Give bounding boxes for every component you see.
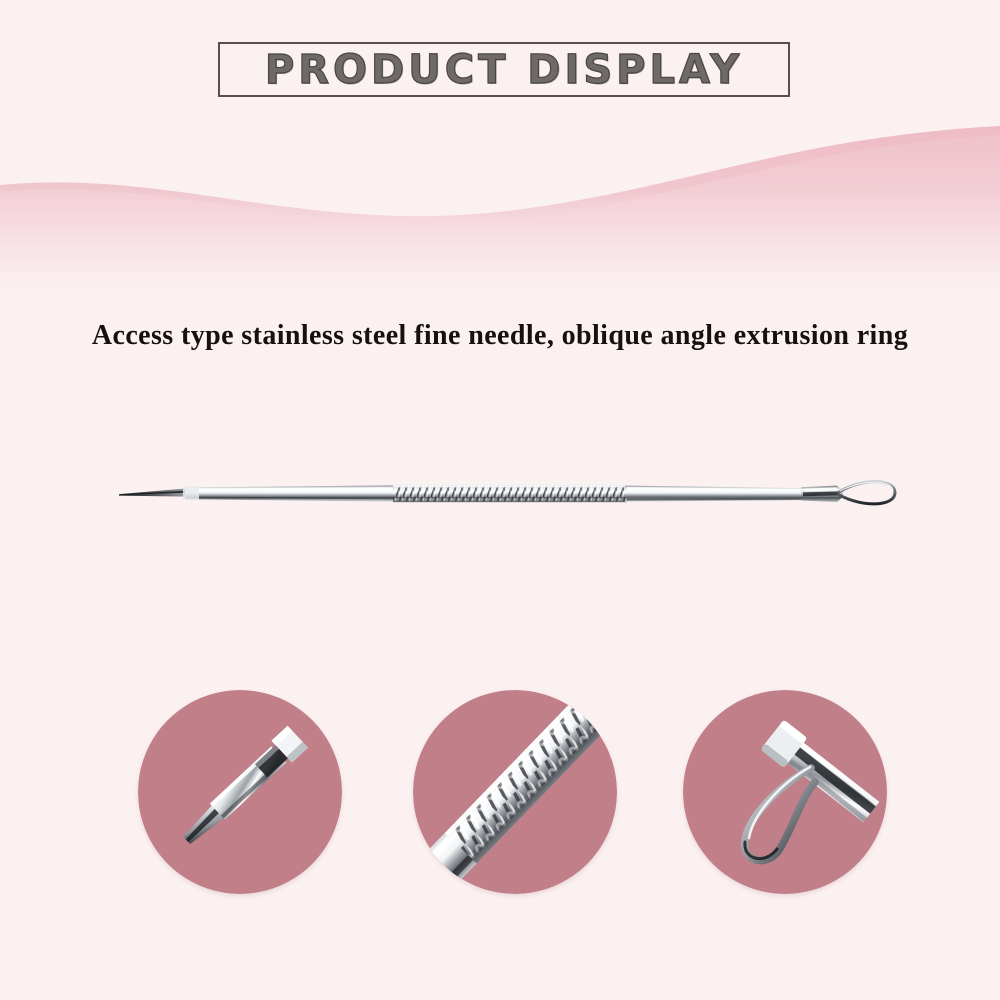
extrusion-ring-part bbox=[839, 482, 895, 504]
needle-tip-part bbox=[119, 488, 187, 496]
detail-knurled-grip-svg bbox=[413, 690, 617, 894]
wave-shape-overlay bbox=[0, 135, 1000, 310]
wave-shape-main bbox=[0, 126, 1000, 310]
detail-needle-tip-svg bbox=[138, 690, 342, 894]
detail-circle-knurled-grip bbox=[413, 690, 617, 894]
loop-collar bbox=[801, 486, 843, 503]
wave-svg bbox=[0, 120, 1000, 310]
detail-circle-needle-tip bbox=[138, 690, 342, 894]
product-display-page: PRODUCT DISPLAY Access type stainless st… bbox=[0, 0, 1000, 1000]
product-description: Access type stainless steel fine needle,… bbox=[0, 320, 1000, 352]
needle-shaft-left bbox=[183, 485, 395, 501]
product-hero-svg bbox=[95, 455, 915, 535]
detail-extrusion-ring-svg bbox=[683, 690, 887, 894]
decorative-wave-band bbox=[0, 120, 1000, 310]
knurled-grip-part bbox=[393, 485, 627, 502]
detail-circles-row bbox=[0, 690, 1000, 900]
product-hero-image bbox=[95, 455, 915, 535]
needle-shaft-right bbox=[625, 486, 811, 502]
page-title: PRODUCT DISPLAY bbox=[218, 42, 790, 97]
detail-circle-extrusion-ring bbox=[683, 690, 887, 894]
